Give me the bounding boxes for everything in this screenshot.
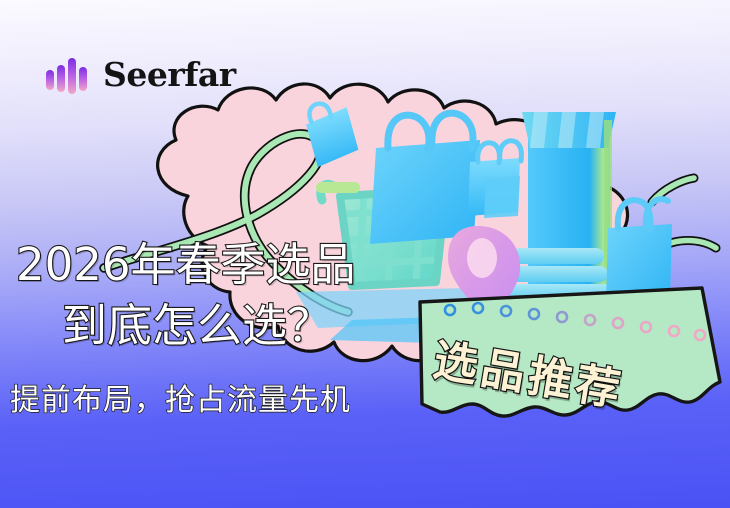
bars-logo-icon [46,56,92,94]
shopping-bag-floating-icon [299,96,361,168]
brand-logo[interactable]: Seerfar [46,55,236,94]
recommendation-badge[interactable]: 选品推荐 [416,286,724,418]
subtitle: 提前布局，抢占流量先机 [0,375,470,419]
shopping-bag-large-icon [370,113,480,244]
shopping-bag-edge-icon [484,176,520,218]
headline-line-1: 2026年春季选品 [0,235,470,296]
shopping-bag-small-icon [468,141,521,216]
promo-banner: Seerfar 2026年春季选品 到底怎么选？ 提前布局，抢占流量先机 [0,0,730,508]
brand-name: Seerfar [103,55,236,94]
storefront-icon [522,112,616,310]
ribbon-arc-icon [652,178,716,248]
headline-line-2: 到底怎么选？ [0,296,470,357]
headline-block: 2026年春季选品 到底怎么选？ 提前布局，抢占流量先机 [0,235,470,419]
